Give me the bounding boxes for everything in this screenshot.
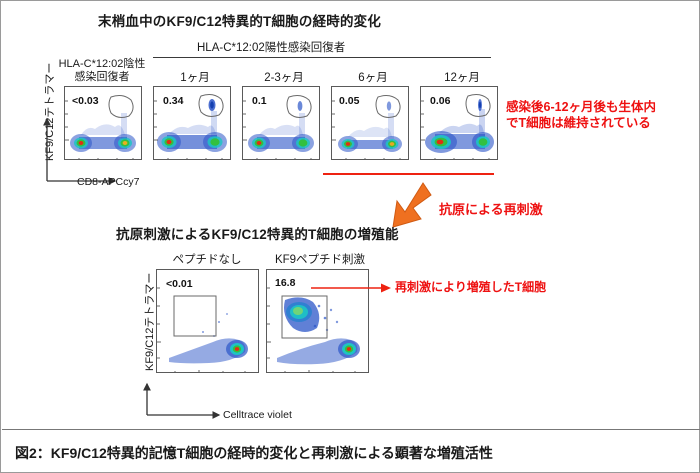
density-cloud-3 (248, 113, 314, 152)
bottom-y-axis-label: KF9/C12テトラマー (141, 273, 157, 371)
gated-population-5 (478, 99, 482, 111)
hla-negative-group-label: HLA-C*12:02陰性 感染回復者 (56, 58, 148, 84)
hla-negative-line2: 感染回復者 (75, 71, 130, 83)
timepoint-label-6mo: 6ヶ月 (334, 69, 412, 85)
gate-percent-label-bottom-1: <0.01 (166, 278, 193, 290)
hla-negative-line1: HLA-C*12:02陰性 (59, 58, 146, 70)
timepoint-label-1mo: 1ヶ月 (156, 69, 234, 85)
antigen-restimulation-annotation: 抗原による再刺激 (439, 202, 543, 219)
proliferated-population-bottom-2 (284, 297, 338, 332)
density-cloud-4 (338, 113, 402, 152)
bottom-plot-label-no-peptide: ペプチドなし (159, 251, 255, 267)
figure-frame: 末梢血中のKF9/C12特異的T細胞の経時的変化 HLA-C*12:02陽性感染… (0, 0, 700, 473)
hla-positive-group-header: HLA-C*12:02陽性感染回復者 (197, 39, 345, 55)
persistence-annotation-line2: でT細胞は維持されている (506, 116, 651, 130)
flow-plot-2-3months[interactable]: 0.1 (242, 86, 320, 160)
flow-plot-1month[interactable]: 0.34 (153, 86, 231, 160)
gated-population-2 (209, 99, 216, 111)
bottom-panel-title: 抗原刺激によるKF9/C12特異的T細胞の増殖能 (116, 223, 399, 243)
gate-percent-label-2: 0.34 (163, 95, 183, 107)
gate-rectangle-bottom-1 (174, 296, 216, 336)
caption-divider (2, 429, 700, 430)
timepoint-label-12mo: 12ヶ月 (423, 69, 501, 85)
density-cloud-1 (70, 113, 136, 152)
restimulation-underline (323, 173, 494, 175)
bottom-plot-label-kf9-peptide: KF9ペプチド刺激 (265, 251, 375, 267)
gated-population-3 (298, 101, 303, 111)
proliferation-annotation: 再刺激により増殖したT細胞 (395, 280, 546, 296)
flow-plot-12months[interactable]: 0.06 (420, 86, 498, 160)
flow-plot-no-peptide[interactable]: <0.01 (156, 269, 259, 373)
gate-percent-label-1: <0.03 (72, 95, 99, 107)
gated-population-4 (387, 101, 391, 110)
timepoint-label-2-3mo: 2-3ヶ月 (245, 69, 323, 85)
top-x-axis-label: CD8-APCcy7 (77, 176, 139, 188)
flow-plot-hla-negative[interactable]: <0.03 (64, 86, 142, 160)
figure-caption: 図2：KF9/C12特異的記憶T細胞の経時的変化と再刺激による顕著な増殖活性 (15, 443, 493, 463)
bottom-x-axis-label: Celltrace violet (223, 409, 292, 421)
group-header-underline (153, 57, 491, 58)
gate-percent-label-3: 0.1 (252, 95, 267, 107)
gate-percent-label-5: 0.06 (430, 95, 450, 107)
density-cloud-bottom-2 (277, 338, 360, 364)
persistence-annotation: 感染後6-12ヶ月後も生体内 でT細胞は維持されている (506, 99, 656, 132)
gate-percent-label-4: 0.05 (339, 95, 359, 107)
density-cloud-bottom-1 (169, 313, 248, 363)
persistence-annotation-line1: 感染後6-12ヶ月後も生体内 (506, 100, 656, 114)
flow-plot-6months[interactable]: 0.05 (331, 86, 409, 160)
density-cloud-2 (157, 111, 227, 152)
proliferation-pointer-arrow (311, 282, 393, 294)
top-panel-title: 末梢血中のKF9/C12特異的T細胞の経時的変化 (98, 10, 381, 30)
gate-percent-label-bottom-2: 16.8 (275, 277, 295, 289)
